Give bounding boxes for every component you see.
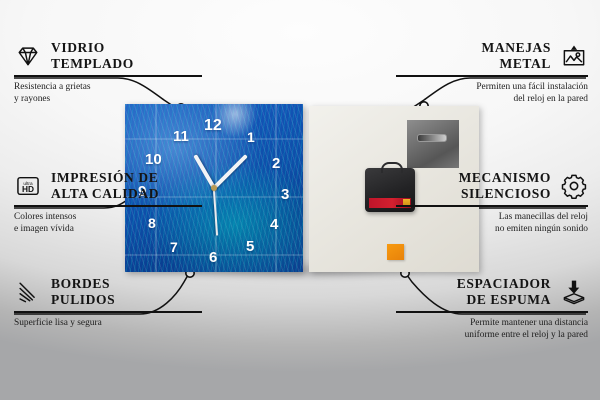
callout-desc-line1: Superficie lisa y segura	[14, 317, 202, 330]
callout-desc-line2: e imagen vívida	[14, 223, 202, 236]
callout-title-line2: PULIDOS	[51, 292, 115, 308]
callout-desc-line1: Permite mantener una distancia	[396, 317, 588, 330]
callout-title-line1: MECANISMO	[459, 170, 551, 186]
clock-numeral-1: 1	[247, 130, 255, 144]
clock-numeral-6: 6	[209, 250, 217, 265]
callout-manejas-metal: MANEJAS METAL Permiten una fácil instala…	[396, 40, 588, 106]
callout-title-line2: METAL	[482, 56, 551, 72]
callout-divider	[14, 311, 202, 312]
clock-minute-hand	[213, 154, 248, 189]
polished-edges-icon	[14, 278, 42, 306]
callout-title-line2: DE ESPUMA	[457, 292, 551, 308]
callout-title-line1: IMPRESIÓN DE	[51, 170, 159, 186]
callout-title-line1: ESPACIADOR	[457, 276, 551, 292]
callout-divider	[14, 75, 202, 76]
metal-hanger-plate	[407, 120, 459, 168]
ultra-hd-icon: ultra HD	[14, 172, 42, 200]
callout-title-line1: VIDRIO	[51, 40, 134, 56]
callout-desc-line2: no emiten ningún sonido	[396, 223, 588, 236]
callout-impresion-alta-calidad: ultra HD IMPRESIÓN DE ALTA CALIDAD Color…	[14, 170, 202, 236]
callout-title-line2: ALTA CALIDAD	[51, 186, 159, 202]
gear-icon	[560, 172, 588, 200]
clock-numeral-5: 5	[246, 239, 254, 254]
callout-desc-line1: Resistencia a grietas	[14, 81, 202, 94]
callout-divider	[396, 311, 588, 312]
clock-numeral-2: 2	[272, 156, 280, 171]
callout-divider	[14, 205, 202, 206]
callout-title-line1: MANEJAS	[482, 40, 551, 56]
callout-desc-line1: Permiten una fácil instalación	[396, 81, 588, 94]
clock-numeral-11: 11	[173, 129, 189, 144]
hanger-slot	[417, 134, 447, 142]
infographic-canvas: 12 1 2 3 4 5 6 7 8 9 10 11	[0, 0, 600, 400]
callout-desc-line2: uniforme entre el reloj y la pared	[396, 329, 588, 342]
callout-desc-line2: del reloj en la pared	[396, 93, 588, 106]
clock-numeral-4: 4	[270, 217, 278, 232]
callout-title-line2: SILENCIOSO	[459, 186, 551, 202]
callout-bordes-pulidos: BORDES PULIDOS Superficie lisa y segura	[14, 276, 202, 329]
callout-desc-line1: Las manecillas del reloj	[396, 211, 588, 224]
wall-hanger-icon	[560, 42, 588, 70]
clock-numeral-3: 3	[281, 187, 289, 202]
callout-desc-line1: Colores intensos	[14, 211, 202, 224]
callout-espaciador-espuma: ESPACIADOR DE ESPUMA Permite mantener un…	[396, 276, 588, 342]
callout-divider	[396, 205, 588, 206]
callout-mecanismo-silencioso: MECANISMO SILENCIOSO Las manecillas del …	[396, 170, 588, 236]
foam-spacer-icon	[560, 278, 588, 306]
callout-vidrio-templado: VIDRIO TEMPLADO Resistencia a grietas y …	[14, 40, 202, 106]
callout-divider	[396, 75, 588, 76]
diamond-icon	[14, 42, 42, 70]
callout-title-line2: TEMPLADO	[51, 56, 134, 72]
clock-numeral-12: 12	[204, 118, 222, 134]
clock-numeral-10: 10	[145, 152, 162, 167]
clock-second-hand	[213, 188, 218, 236]
callout-title-line1: BORDES	[51, 276, 115, 292]
clock-numeral-7: 7	[170, 240, 178, 254]
clock-center-hub	[211, 185, 217, 191]
svg-text:HD: HD	[22, 184, 34, 194]
callout-desc-line2: y rayones	[14, 93, 202, 106]
foam-spacer	[387, 244, 404, 260]
